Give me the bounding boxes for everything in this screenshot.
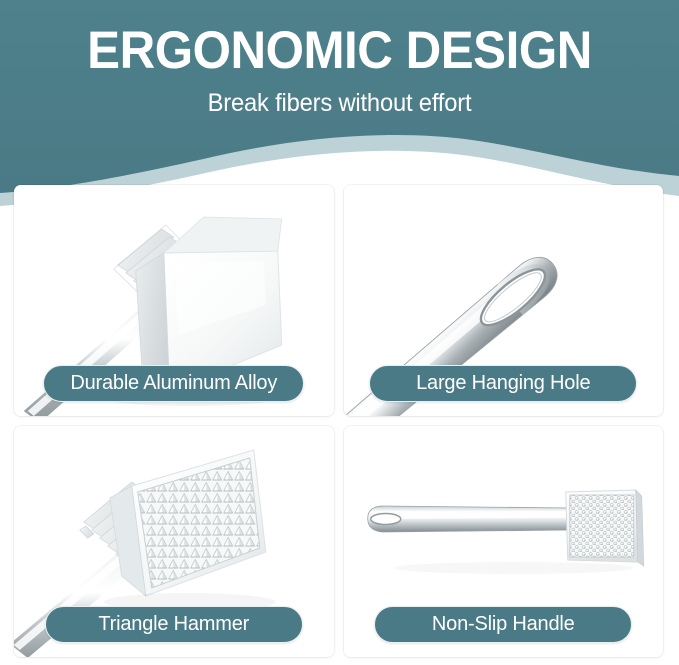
card-label-wrap: Non-Slip Handle [344, 606, 664, 643]
textured-face [569, 495, 633, 557]
feature-card-grid: Durable Aluminum Alloy [14, 185, 663, 657]
feature-card-non-slip-handle[interactable]: Non-Slip Handle [344, 426, 664, 657]
hanging-hole [370, 514, 400, 525]
card-label-wrap: Durable Aluminum Alloy [14, 365, 334, 402]
infographic-page: ERGONOMIC DESIGN Break fibers without ef… [0, 0, 679, 665]
feature-card-large-hanging-hole[interactable]: Large Hanging Hole [344, 185, 664, 416]
label-durable-aluminum-alloy[interactable]: Durable Aluminum Alloy [43, 365, 304, 402]
header-banner: ERGONOMIC DESIGN Break fibers without ef… [0, 0, 679, 215]
tenderizer-head [565, 490, 643, 566]
feature-card-triangle-hammer[interactable]: Triangle Hammer [14, 426, 334, 657]
feature-card-durable-aluminum-alloy[interactable]: Durable Aluminum Alloy [14, 185, 334, 416]
label-triangle-hammer[interactable]: Triangle Hammer [45, 606, 303, 643]
label-non-slip-handle[interactable]: Non-Slip Handle [374, 606, 632, 643]
card-label-wrap: Large Hanging Hole [344, 365, 664, 402]
banner-wave-graphic [0, 0, 679, 215]
handle-shaft [367, 506, 569, 532]
label-large-hanging-hole[interactable]: Large Hanging Hole [369, 365, 637, 402]
card-label-wrap: Triangle Hammer [14, 606, 334, 643]
